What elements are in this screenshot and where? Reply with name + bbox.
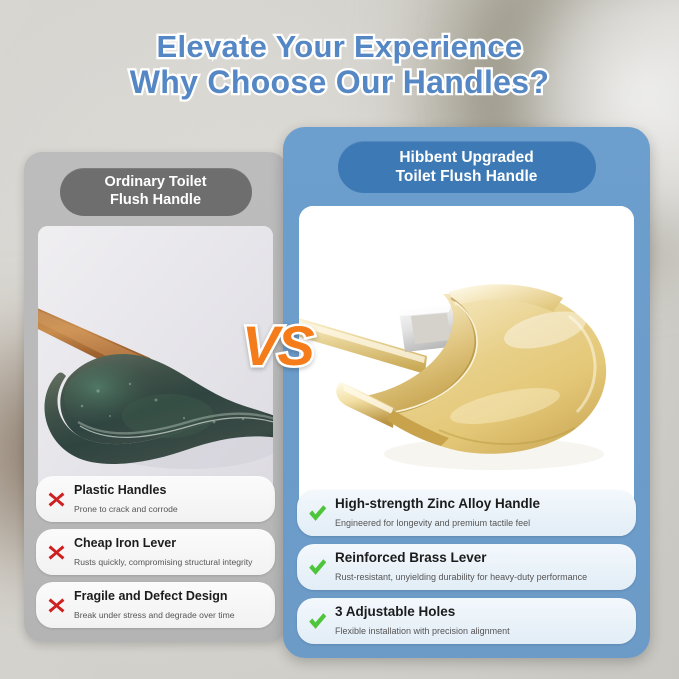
feature-title: Plastic Handles [74,483,166,497]
title-line-1: Elevate Your Experience [0,30,679,65]
upgraded-product-image [299,206,634,536]
upgraded-product-panel: Hibbent Upgraded Toilet Flush Handle [283,127,650,658]
green-check-icon [306,611,329,632]
red-x-icon [45,543,68,562]
corroded-handle-illustration [38,226,273,502]
upgraded-badge-line-2: Toilet Flush Handle [396,167,538,186]
feature-title: High-strength Zinc Alloy Handle [335,496,540,511]
gold-handle-illustration [299,206,634,536]
feature-subtitle: Engineered for longevity and premium tac… [335,518,530,528]
green-check-icon [306,503,329,524]
list-item: Reinforced Brass Lever Rust-resistant, u… [297,544,636,590]
feature-title: Fragile and Defect Design [74,589,228,603]
green-check-icon [306,557,329,578]
list-item: 3 Adjustable Holes Flexible installation… [297,598,636,644]
upgraded-product-badge: Hibbent Upgraded Toilet Flush Handle [338,141,596,193]
feature-subtitle: Rusts quickly, compromising structural i… [74,557,252,567]
upgraded-badge-line-1: Hibbent Upgraded [399,148,533,167]
feature-title: 3 Adjustable Holes [335,604,455,619]
feature-subtitle: Rust-resistant, unyielding durability fo… [335,572,587,582]
ordinary-feature-list: Plastic Handles Prone to crack and corro… [36,476,275,628]
list-item: Cheap Iron Lever Rusts quickly, compromi… [36,529,275,575]
ordinary-product-image [38,226,273,502]
feature-subtitle: Prone to crack and corrode [74,504,178,514]
feature-title: Cheap Iron Lever [74,536,176,550]
ordinary-product-panel: Ordinary Toilet Flush Handle [24,152,287,642]
list-item: High-strength Zinc Alloy Handle Engineer… [297,490,636,536]
title-line-2: Why Choose Our Handles? [0,65,679,101]
feature-subtitle: Flexible installation with precision ali… [335,626,510,636]
vs-badge: VS [242,318,313,374]
upgraded-feature-list: High-strength Zinc Alloy Handle Engineer… [297,490,636,644]
list-item: Plastic Handles Prone to crack and corro… [36,476,275,522]
feature-title: Reinforced Brass Lever [335,550,487,565]
red-x-icon [45,596,68,615]
red-x-icon [45,490,68,509]
list-item: Fragile and Defect Design Break under st… [36,582,275,628]
feature-subtitle: Break under stress and degrade over time [74,610,235,620]
ordinary-badge-line-2: Flush Handle [110,192,201,210]
ordinary-product-badge: Ordinary Toilet Flush Handle [60,168,252,216]
ordinary-badge-line-1: Ordinary Toilet [104,174,206,192]
page-title: Elevate Your Experience Why Choose Our H… [0,30,679,101]
